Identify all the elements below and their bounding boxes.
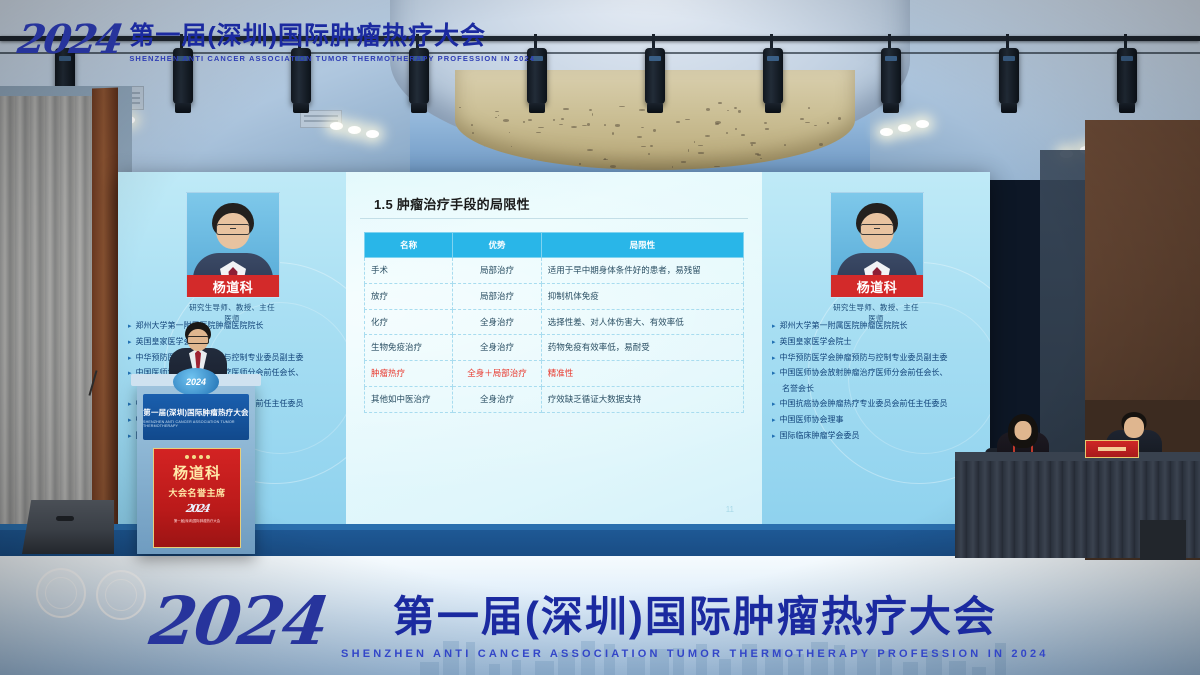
- bullet-icon: ▸: [772, 430, 776, 443]
- credential-item: ▸中国抗癌协会肿瘤热疗专业委员会前任主任委员: [772, 398, 984, 411]
- credential-item: ▸英国皇家医学会院士: [772, 336, 984, 349]
- credential-item: ▸中华预防医学会肿瘤预防与控制专业委员副主委: [128, 352, 340, 365]
- credential-text: 中国抗癌协会肿瘤热疗专业委员会前任主任委员: [780, 398, 984, 411]
- name-card: [1085, 440, 1139, 458]
- table-cell-name: 肿瘤热疗: [365, 361, 453, 387]
- banner-year-logo: 2024: [146, 582, 333, 660]
- speaker-portrait-block: 杨道科 研究生导师、教授、主任医师: [830, 192, 922, 324]
- table-cell-advantage: 全身＋局部治疗: [453, 361, 541, 387]
- watermark-banner: 2024 第一届(深圳)国际肿瘤热疗大会 SHENZHEN ANTI CANCE…: [18, 16, 535, 63]
- speaker-portrait-block: 杨道科 研究生导师、教授、主任医师: [186, 192, 278, 324]
- stage-monitor-speaker: [22, 500, 114, 554]
- credential-item: ▸中国医师协会放射肿瘤治疗医师分会前任会长、: [772, 367, 984, 380]
- slide-page-number: 11: [726, 505, 734, 514]
- wood-column: [92, 88, 118, 551]
- podium-globe-text: 2024: [186, 377, 206, 387]
- attendee-face: [1124, 417, 1144, 438]
- spotlight-icon: [999, 48, 1019, 104]
- speaker-name-band: 杨道科: [187, 275, 279, 297]
- placard-dots: [185, 455, 210, 459]
- credential-text: 英国皇家医学会院士: [136, 336, 340, 349]
- downlight-icon: [916, 120, 929, 128]
- bullet-icon: ▸: [128, 320, 132, 333]
- table-cell-limitation: 抑制机体免疫: [541, 283, 743, 309]
- credential-text: 中华预防医学会肿瘤预防与控制专业委员副主委: [136, 352, 340, 365]
- table-cell-advantage: 局部治疗: [453, 258, 541, 284]
- table-cell-limitation: 适用于早中期身体条件好的患者，易残留: [541, 258, 743, 284]
- credential-item: ▸国际临床肿瘤学会委员: [772, 430, 984, 443]
- downlight-icon: [898, 124, 911, 132]
- bullet-icon: ▸: [772, 320, 776, 333]
- bullet-icon: ▸: [772, 367, 776, 380]
- spotlight-icon: [1117, 48, 1137, 104]
- speaker-name: 杨道科: [857, 277, 898, 296]
- glasses-icon: [216, 224, 250, 235]
- table-row: 肿瘤热疗全身＋局部治疗精准性: [365, 361, 744, 387]
- podium-sign: 第一届(深圳)国际肿瘤热疗大会 SHENZHEN ANTI CANCER ASS…: [143, 394, 249, 440]
- credential-text: 郑州大学第一附属医院肿瘤医院院长: [136, 320, 340, 333]
- bullet-icon: ▸: [772, 398, 776, 411]
- table-column-header: 局限性: [541, 233, 743, 258]
- podium-sign-title: 第一届(深圳)国际肿瘤热疗大会: [143, 407, 249, 418]
- floor-speaker-box: [1140, 520, 1186, 560]
- spotlight-icon: [881, 48, 901, 104]
- credential-item: ▸郑州大学第一附属医院肿瘤医院院长: [128, 320, 340, 333]
- table-cell-name: 生物免疫治疗: [365, 335, 453, 361]
- bullet-icon: ▸: [772, 352, 776, 365]
- credential-text: 国际临床肿瘤学会委员: [780, 430, 984, 443]
- honor-placard: 杨道科 大会名誉主席 2024 第一届(深圳)国际肿瘤热疗大会: [153, 448, 241, 548]
- credential-text: 郑州大学第一附属医院肿瘤医院院长: [780, 320, 984, 333]
- glasses-icon: [860, 224, 894, 235]
- placard-footer: 第一届(深圳)国际肿瘤热疗大会: [174, 518, 220, 523]
- credential-item: ▸英国皇家医学会院士: [128, 336, 340, 349]
- table-cell-limitation: 疗效缺乏循证大数据支持: [541, 386, 743, 412]
- bullet-icon: ▸: [128, 430, 132, 443]
- credential-text: 英国皇家医学会院士: [780, 336, 984, 349]
- table-cell-name: 放疗: [365, 283, 453, 309]
- slide-content: 1.5 肿瘤治疗手段的局限性 名称优势局限性 手术局部治疗适用于早中期身体条件好…: [346, 172, 762, 524]
- spotlight-icon: [645, 48, 665, 104]
- credential-text: 中华预防医学会肿瘤预防与控制专业委员副主委: [780, 352, 984, 365]
- bullet-icon: ▸: [128, 398, 132, 411]
- table-row: 生物免疫治疗全身治疗药物免疫有效率低，易耐受: [365, 335, 744, 361]
- table-cell-advantage: 全身治疗: [453, 386, 541, 412]
- bullet-icon: ▸: [128, 336, 132, 349]
- watermark-year-logo: 2024: [15, 16, 125, 63]
- table-row: 化疗全身治疗选择性差、对人体伤害大、有效率低: [365, 309, 744, 335]
- table-row: 手术局部治疗适用于早中期身体条件好的患者，易残留: [365, 258, 744, 284]
- credential-text: 中国医师协会理事: [780, 414, 984, 427]
- table-cell-advantage: 全身治疗: [453, 309, 541, 335]
- credential-text: 中国医师协会放射肿瘤治疗医师分会前任会长、: [780, 367, 984, 380]
- podium: 2024 第一届(深圳)国际肿瘤热疗大会 SHENZHEN ANTI CANCE…: [137, 382, 255, 554]
- speaker-name-band: 杨道科: [831, 275, 923, 297]
- bullet-icon: ▸: [772, 414, 776, 427]
- credential-item: 名誉会长: [772, 383, 984, 395]
- table-cell-advantage: 局部治疗: [453, 283, 541, 309]
- table-cell-advantage: 全身治疗: [453, 335, 541, 361]
- attendee-face: [1015, 421, 1032, 440]
- downlight-icon: [880, 128, 893, 136]
- bullet-icon: ▸: [128, 414, 132, 427]
- speaker-name: 杨道科: [213, 277, 254, 296]
- table-column-header: 优势: [453, 233, 541, 258]
- table-row: 其他如中医治疗全身治疗疗效缺乏循证大数据支持: [365, 386, 744, 412]
- speaker-photo: 杨道科: [186, 192, 280, 298]
- stage-banner-text: 2024 第一届(深圳)国际肿瘤热疗大会 SHENZHEN ANTI CANCE…: [0, 582, 1200, 660]
- table-header-row: 名称优势局限性: [365, 233, 744, 258]
- bullet-icon: ▸: [128, 352, 132, 365]
- downlight-icon: [348, 126, 361, 134]
- placard-role: 大会名誉主席: [168, 486, 225, 499]
- table-cell-limitation: 选择性差、对人体伤害大、有效率低: [541, 309, 743, 335]
- table-cell-limitation: 药物免疫有效率低，易耐受: [541, 335, 743, 361]
- globe-logo-icon: 2024: [173, 368, 219, 396]
- table-top: [955, 452, 1200, 461]
- table-column-header: 名称: [365, 233, 453, 258]
- watermark-title-cn: 第一届(深圳)国际肿瘤热疗大会: [129, 16, 535, 52]
- spotlight-icon: [763, 48, 783, 104]
- table-cell-limitation: 精准性: [541, 361, 743, 387]
- podium-sign-sub: SHENZHEN ANTI CANCER ASSOCIATION TUMOR T…: [143, 420, 249, 428]
- credential-text: 名誉会长: [782, 383, 984, 395]
- placard-name: 杨道科: [173, 462, 221, 483]
- table-body: 手术局部治疗适用于早中期身体条件好的患者，易残留放疗局部治疗抑制机体免疫化疗全身…: [365, 258, 744, 413]
- banner-title-cn: 第一届(深圳)国际肿瘤热疗大会: [393, 583, 997, 644]
- table-row: 放疗局部治疗抑制机体免疫: [365, 283, 744, 309]
- window-curtain: [0, 96, 104, 548]
- downlight-icon: [330, 122, 343, 130]
- watermark-title-en: SHENZHEN ANTI CANCER ASSOCIATION TUMOR T…: [129, 54, 535, 63]
- glasses-icon: [187, 336, 209, 344]
- downlight-icon: [366, 130, 379, 138]
- table-cell-name: 其他如中医治疗: [365, 386, 453, 412]
- banner-title-en: SHENZHEN ANTI CANCER ASSOCIATION TUMOR T…: [341, 648, 1049, 660]
- placard-logo: 2024: [185, 502, 209, 515]
- conference-photo: 杨道科 研究生导师、教授、主任医师 ▸郑州大学第一附属医院肿瘤医院院长▸英国皇家…: [0, 0, 1200, 675]
- table-cell-name: 化疗: [365, 309, 453, 335]
- limitations-table: 名称优势局限性 手术局部治疗适用于早中期身体条件好的患者，易残留放疗局部治疗抑制…: [364, 232, 744, 413]
- slide-title: 1.5 肿瘤治疗手段的局限性: [374, 194, 530, 213]
- speaker-photo: 杨道科: [830, 192, 924, 298]
- credentials-list-right: ▸郑州大学第一附属医院肿瘤医院院长▸英国皇家医学会院士▸中华预防医学会肿瘤预防与…: [772, 320, 984, 445]
- credential-item: ▸中国医师协会理事: [772, 414, 984, 427]
- table-cell-name: 手术: [365, 258, 453, 284]
- credential-item: ▸中华预防医学会肿瘤预防与控制专业委员副主委: [772, 352, 984, 365]
- bullet-icon: ▸: [772, 336, 776, 349]
- title-divider: [360, 218, 748, 219]
- credential-item: ▸郑州大学第一附属医院肿瘤医院院长: [772, 320, 984, 333]
